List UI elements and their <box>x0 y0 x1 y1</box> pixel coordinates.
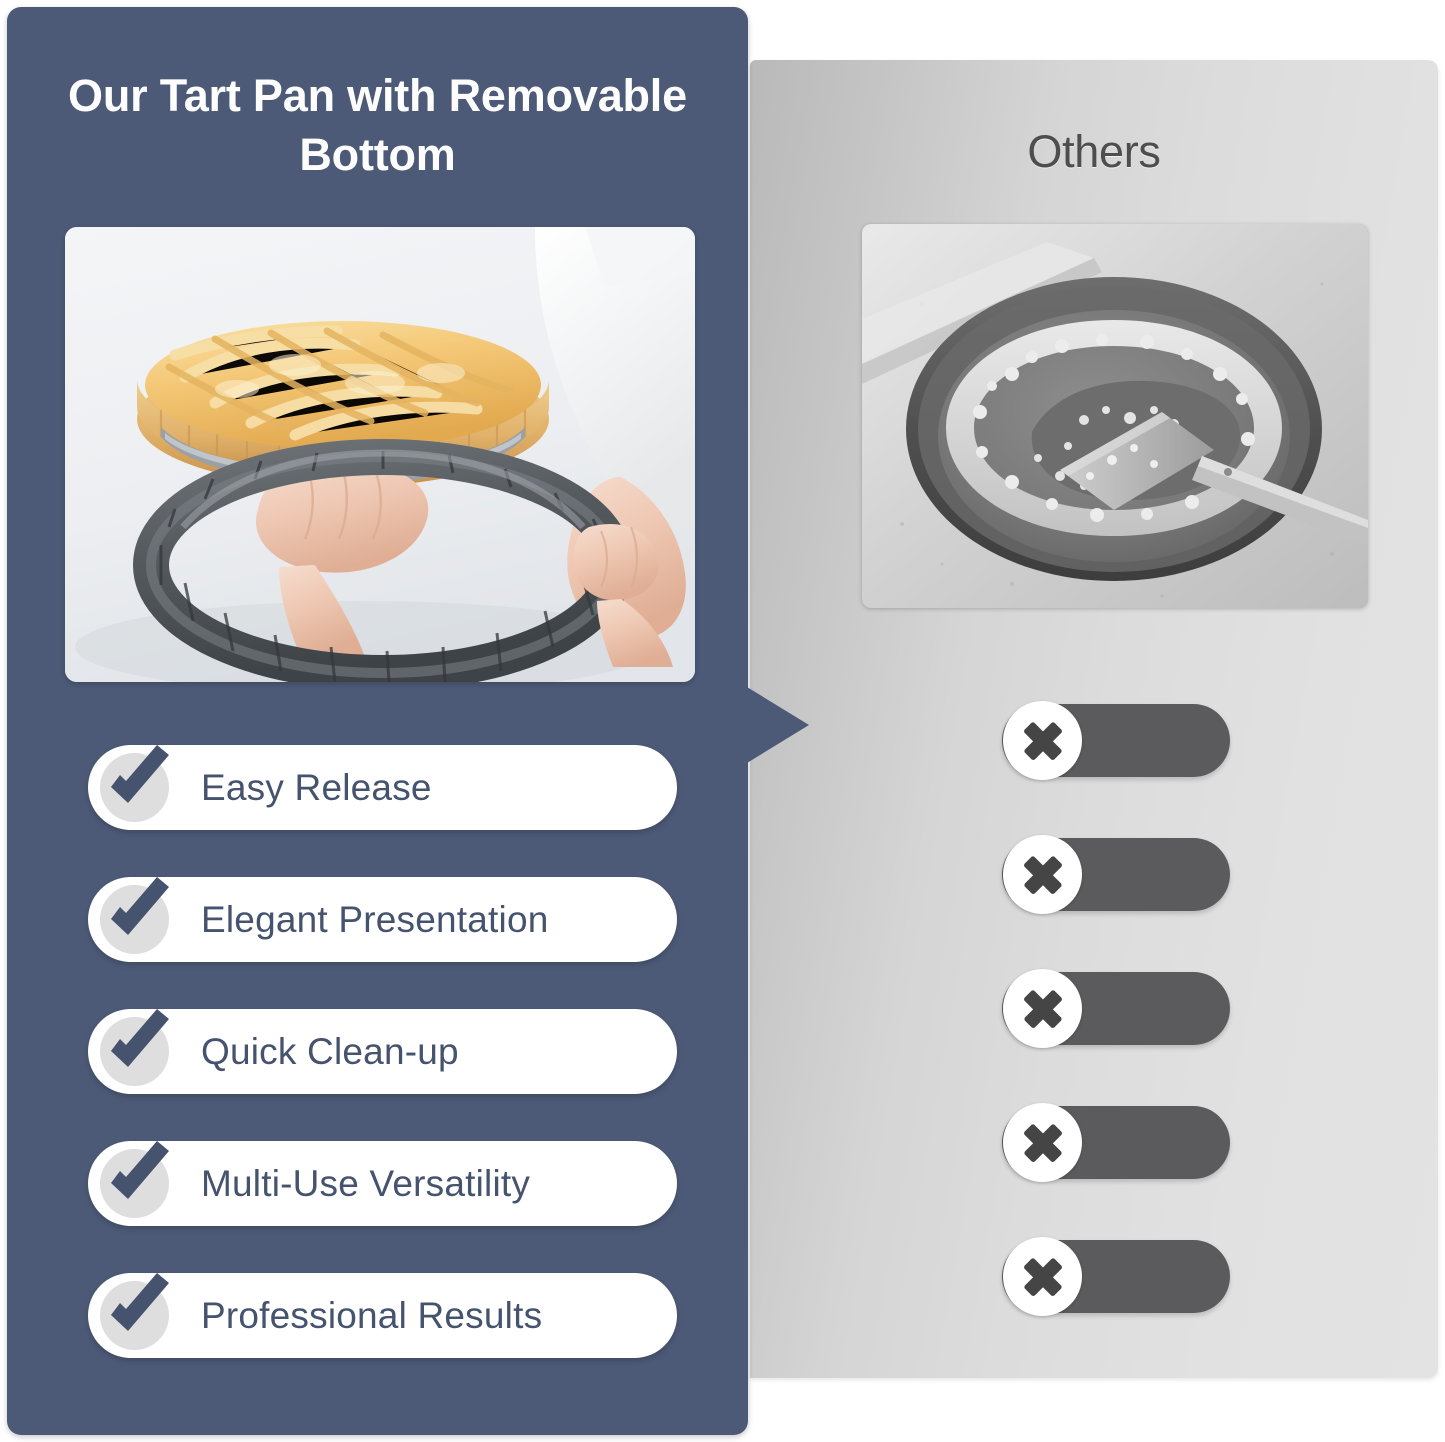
ours-panel: Our Tart Pan with Removable Bottom <box>7 7 748 1435</box>
comparison-infographic: Others <box>0 0 1445 1442</box>
feature-label: Elegant Presentation <box>201 899 549 941</box>
feature-pill: Quick Clean-up <box>88 1009 677 1094</box>
drawback-pill <box>1002 972 1230 1045</box>
x-icon <box>1003 701 1082 780</box>
feature-pill: Professional Results <box>88 1273 677 1358</box>
x-icon <box>1003 1103 1082 1182</box>
x-icon <box>1003 1237 1082 1316</box>
drawback-pill <box>1002 1106 1230 1179</box>
x-icon <box>1003 835 1082 914</box>
check-icon <box>100 753 169 822</box>
comparison-arrow <box>747 687 817 763</box>
stuck-crust-photo <box>862 224 1368 608</box>
ours-feature-list: Easy Release Elegant Presentation <box>88 745 677 1358</box>
others-drawback-list <box>1002 704 1230 1313</box>
check-icon <box>100 1281 169 1350</box>
page-title: Our Tart Pan with Removable Bottom <box>7 67 748 185</box>
check-icon <box>100 885 169 954</box>
feature-label: Multi-Use Versatility <box>201 1163 530 1205</box>
others-title: Others <box>750 126 1438 178</box>
drawback-pill <box>1002 838 1230 911</box>
feature-label: Professional Results <box>201 1295 542 1337</box>
feature-label: Easy Release <box>201 767 432 809</box>
x-icon <box>1003 969 1082 1048</box>
feature-pill: Multi-Use Versatility <box>88 1141 677 1226</box>
feature-pill: Easy Release <box>88 745 677 830</box>
tart-pan-removable-bottom-photo <box>65 227 695 682</box>
feature-pill: Elegant Presentation <box>88 877 677 962</box>
others-panel: Others <box>750 60 1438 1378</box>
drawback-pill <box>1002 1240 1230 1313</box>
drawback-pill <box>1002 704 1230 777</box>
check-icon <box>100 1149 169 1218</box>
feature-label: Quick Clean-up <box>201 1031 459 1073</box>
check-icon <box>100 1017 169 1086</box>
